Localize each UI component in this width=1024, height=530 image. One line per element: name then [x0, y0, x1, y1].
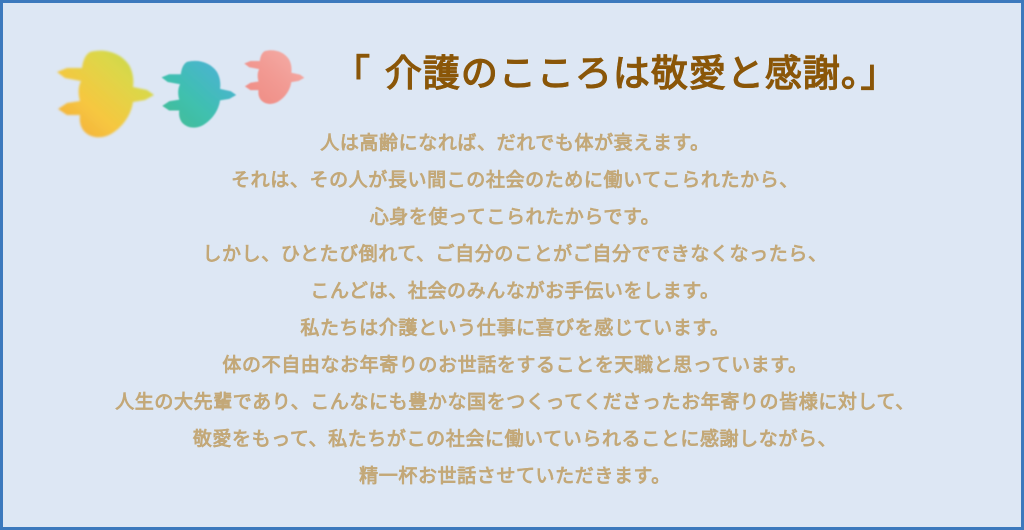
statement-line: しかし、ひとたび倒れて、ご自分のことがご自分でできなくなったら、	[3, 236, 1024, 273]
statement-line: 私たちは介護という仕事に喜びを感じています。	[3, 310, 1024, 347]
statement-line: それは、その人が長い間この社会のために働いてこられたから、	[3, 162, 1024, 199]
bird-pink-icon	[243, 48, 305, 105]
statement-body: 人は高齢になれば、だれでも体が衰えます。 それは、その人が長い間この社会のために…	[3, 125, 1024, 495]
page-title: 「 介護のこころは敬愛と感謝。」	[333, 50, 853, 98]
statement-line: 敬愛をもって、私たちがこの社会に働いていられることに感謝しながら、	[3, 421, 1024, 458]
statement-line: 心身を使ってこられたからです。	[3, 199, 1024, 236]
statement-line: こんどは、社会のみんながお手伝いをします。	[3, 273, 1024, 310]
statement-panel: 「 介護のこころは敬愛と感謝。」 人は高齢になれば、だれでも体が衰えます。 それ…	[0, 0, 1024, 530]
statement-line: 精一杯お世話させていただきます。	[3, 458, 1024, 495]
statement-line: 体の不自由なお年寄りのお世話をすることを天職と思っています。	[3, 347, 1024, 384]
statement-line: 人は高齢になれば、だれでも体が衰えます。	[3, 125, 1024, 162]
statement-line: 人生の大先輩であり、こんなにも豊かな国をつくってくださったお年寄りの皆様に対して…	[3, 384, 1024, 421]
bird-teal-icon	[160, 58, 237, 129]
